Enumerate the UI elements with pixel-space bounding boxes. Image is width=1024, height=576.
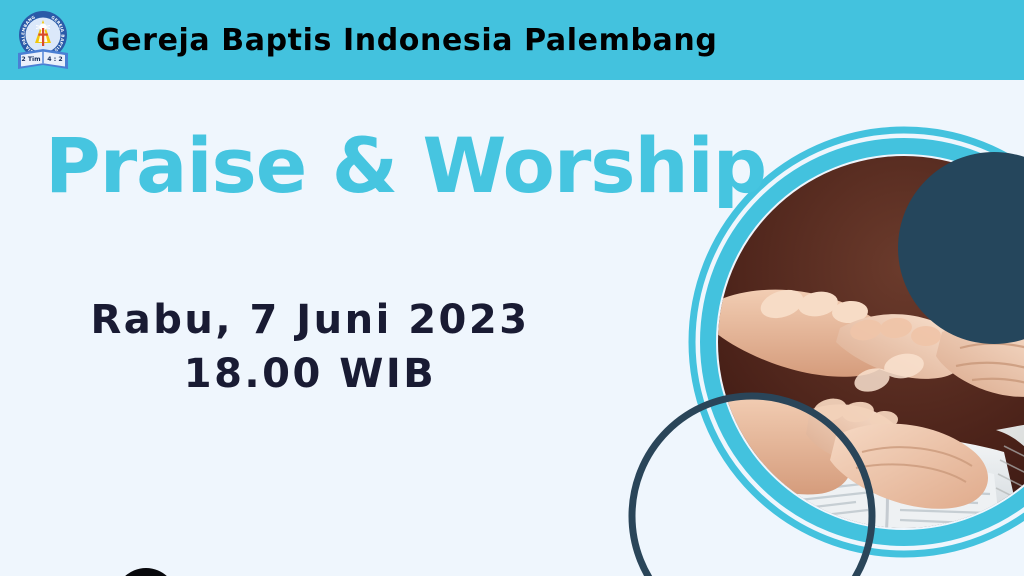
event-location: Menara Doa (115, 568, 470, 576)
church-logo-icon: GEREJA BAPTIS INDONESIA PALEMBANG 2 Tim … (12, 9, 74, 73)
content-area: Praise & Worship Rabu, 7 Juni 2023 18.00… (0, 80, 660, 576)
map-pin-icon (115, 568, 177, 576)
event-title: Praise & Worship (45, 128, 766, 204)
header-bar: GEREJA BAPTIS INDONESIA PALEMBANG 2 Tim … (0, 0, 1024, 80)
event-datetime-block: Rabu, 7 Juni 2023 18.00 WIB (0, 293, 620, 401)
event-date: Rabu, 7 Juni 2023 (0, 293, 620, 347)
event-time: 18.00 WIB (0, 347, 620, 401)
logo-book-text-left: 2 Tim (21, 56, 40, 63)
event-flyer: GEREJA BAPTIS INDONESIA PALEMBANG 2 Tim … (0, 0, 1024, 576)
map-pin-svg (115, 568, 177, 576)
church-logo-svg: GEREJA BAPTIS INDONESIA PALEMBANG 2 Tim … (12, 9, 74, 73)
header-title: Gereja Baptis Indonesia Palembang (96, 23, 717, 58)
logo-book-text-right: 4 : 2 (47, 56, 62, 63)
